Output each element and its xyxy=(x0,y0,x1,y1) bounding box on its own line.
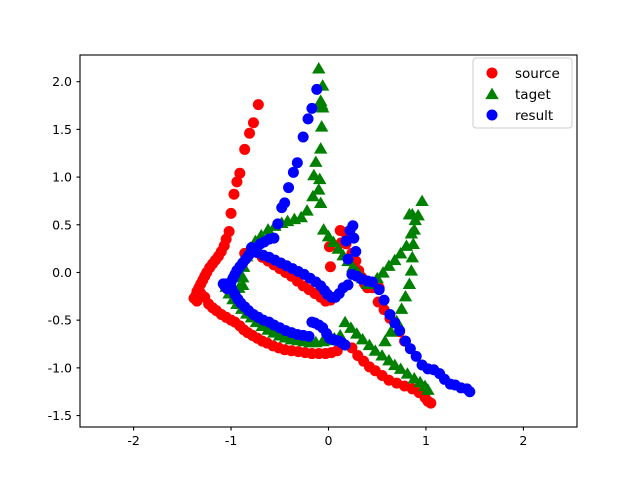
y-tick-label: 0.0 xyxy=(52,265,72,280)
data-point xyxy=(311,84,322,95)
data-point xyxy=(226,208,237,219)
data-point xyxy=(288,167,299,178)
data-point xyxy=(276,202,287,213)
data-point xyxy=(340,339,351,350)
y-tick-label: -1.5 xyxy=(48,408,72,423)
series-result xyxy=(218,84,476,397)
y-tick-label: 1.5 xyxy=(52,122,72,137)
matplotlib-figure: -2-1012-1.5-1.0-0.50.00.51.01.52.0 sourc… xyxy=(0,0,640,480)
data-point xyxy=(325,261,336,272)
x-tick-label: 0 xyxy=(325,433,333,448)
y-tick-label: 1.0 xyxy=(52,170,72,185)
data-point xyxy=(304,331,315,342)
x-tick-label: 1 xyxy=(422,433,430,448)
data-point xyxy=(342,279,353,290)
data-point xyxy=(406,251,419,262)
data-point xyxy=(314,142,327,153)
data-point xyxy=(394,325,405,336)
data-point xyxy=(283,182,294,193)
data-point xyxy=(298,132,309,143)
data-points-layer xyxy=(189,62,476,409)
data-point xyxy=(464,386,475,397)
y-tick-label: 2.0 xyxy=(52,74,72,89)
x-tick-label: -1 xyxy=(225,433,237,448)
data-point xyxy=(239,144,250,155)
y-tick-label: -0.5 xyxy=(48,313,72,328)
data-point xyxy=(405,264,418,275)
data-point xyxy=(228,189,239,200)
data-point xyxy=(292,157,303,168)
plot-legend: sourcetagetresult xyxy=(473,58,572,128)
data-point xyxy=(348,233,359,244)
data-point xyxy=(306,103,317,114)
x-tick-label: -2 xyxy=(127,433,139,448)
data-point xyxy=(303,113,314,124)
y-tick-label: -1.0 xyxy=(48,360,72,375)
data-point xyxy=(342,254,353,265)
scatter-plot-canvas: -2-1012-1.5-1.0-0.50.00.51.01.52.0 sourc… xyxy=(0,0,640,480)
legend-marker-result xyxy=(487,110,498,121)
data-point xyxy=(374,284,385,295)
data-point xyxy=(379,295,390,306)
legend-label-source: source xyxy=(515,66,560,82)
data-point xyxy=(403,278,416,289)
legend-label-taget: taget xyxy=(515,87,551,103)
data-point xyxy=(399,290,412,301)
data-point xyxy=(395,302,408,313)
x-tick-label: 2 xyxy=(519,433,527,448)
legend-label-result: result xyxy=(515,108,553,124)
data-point xyxy=(312,62,325,73)
data-point xyxy=(309,155,322,166)
y-tick-label: 0.5 xyxy=(52,217,72,232)
legend-marker-source xyxy=(487,68,498,79)
data-point xyxy=(244,128,255,139)
data-point xyxy=(415,195,428,206)
data-point xyxy=(425,398,436,409)
data-point xyxy=(253,99,264,110)
data-point xyxy=(231,176,242,187)
data-point xyxy=(248,117,259,128)
data-point xyxy=(315,120,328,131)
data-point xyxy=(272,218,283,229)
